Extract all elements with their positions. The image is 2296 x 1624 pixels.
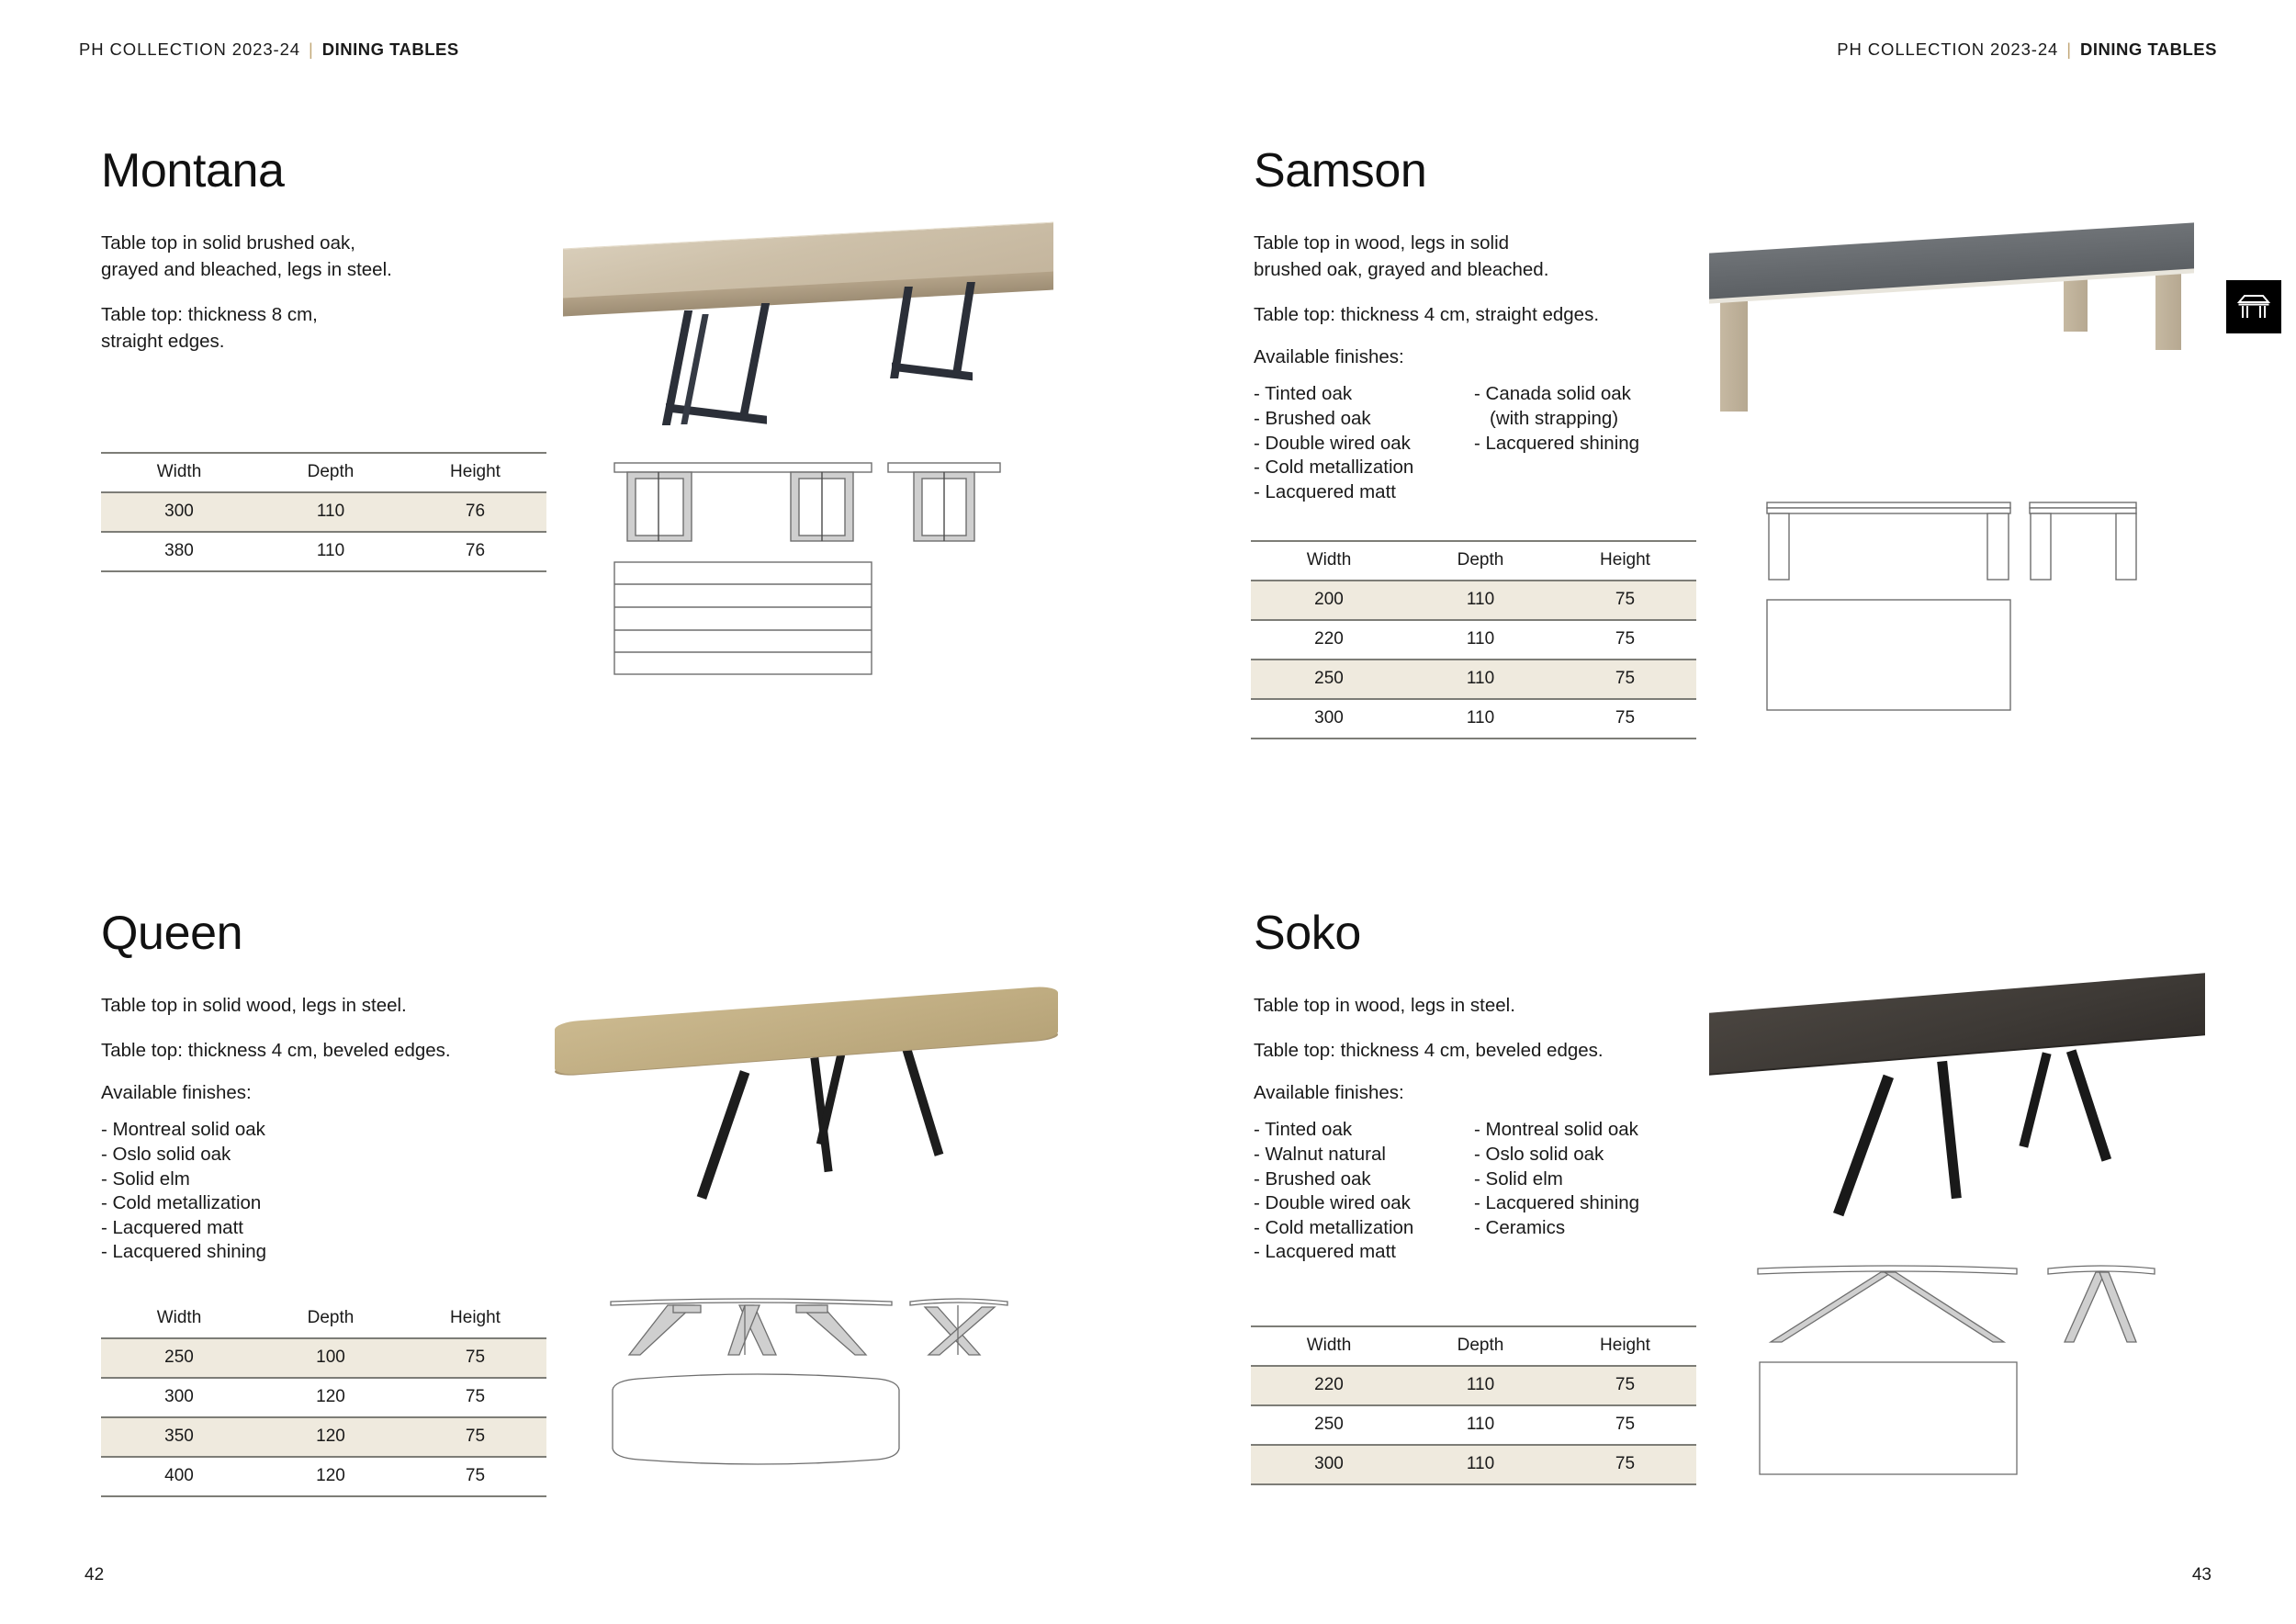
cell-height: 75	[1554, 581, 1696, 620]
cell-height: 76	[404, 532, 546, 571]
table-top-surface	[555, 986, 1058, 1076]
column-header-width: Width	[101, 453, 257, 492]
cell-width: 400	[101, 1457, 257, 1496]
column-header-depth: Depth	[257, 453, 404, 492]
table-row: 400 120 75	[101, 1457, 546, 1496]
finishes-column-right: - Canada solid oak (with strapping) - La…	[1474, 382, 1639, 504]
column-header-width: Width	[1251, 1326, 1407, 1366]
table-row: 220 110 75	[1251, 620, 1696, 660]
table-row: 200 110 75	[1251, 581, 1696, 620]
cell-width: 380	[101, 532, 257, 571]
cell-width: 300	[101, 492, 257, 532]
table-row: 380 110 76	[101, 532, 546, 571]
finish-item: - Lacquered matt	[1254, 1240, 1474, 1265]
samson-drawing-svg	[1754, 491, 2177, 721]
cell-width: 250	[1251, 660, 1407, 699]
soko-drawing-svg	[1745, 1254, 2177, 1483]
montana-drawing-svg	[602, 450, 1033, 698]
running-head-separator: |	[309, 39, 314, 59]
column-header-height: Height	[404, 453, 546, 492]
finish-item: - Double wired oak	[1254, 1191, 1474, 1216]
product-title-samson: Samson	[1254, 147, 2218, 195]
table-header-row: Width Depth Height	[101, 453, 546, 492]
table-header-row: Width Depth Height	[1251, 541, 1696, 581]
column-header-height: Height	[1554, 541, 1696, 581]
table-row: 300 110 76	[101, 492, 546, 532]
table-row: 300 120 75	[101, 1378, 546, 1417]
cell-depth: 110	[1407, 1445, 1554, 1484]
finishes-column-left: - Montreal solid oak - Oslo solid oak - …	[101, 1118, 321, 1265]
technical-drawing-montana	[602, 450, 1033, 703]
cell-height: 75	[404, 1338, 546, 1378]
finishes-column-right: - Montreal solid oak - Oslo solid oak - …	[1474, 1118, 1639, 1265]
queen-drawing-svg	[602, 1281, 1033, 1493]
table-row: 300 110 75	[1251, 699, 1696, 739]
finish-item: - Oslo solid oak	[1474, 1143, 1639, 1167]
cell-width: 250	[1251, 1405, 1407, 1445]
finish-item: - Brushed oak	[1254, 407, 1474, 432]
catalog-spread: PH COLLECTION 2023-24|DINING TABLES PH C…	[0, 0, 2296, 1624]
leg-post	[697, 1070, 750, 1200]
leg-post	[739, 303, 770, 418]
cell-depth: 110	[257, 532, 404, 571]
column-header-depth: Depth	[257, 1300, 404, 1338]
finish-item: - Lacquered shining	[101, 1240, 321, 1265]
running-head-left: PH COLLECTION 2023-24|DINING TABLES	[79, 39, 459, 60]
table-header-row: Width Depth Height	[1251, 1326, 1696, 1366]
running-head-collection: PH COLLECTION 2023-24	[1837, 39, 2058, 59]
finish-item: - Solid elm	[1474, 1167, 1639, 1192]
product-title-soko: Soko	[1254, 909, 2218, 957]
finish-item: - Tinted oak	[1254, 382, 1474, 407]
finish-item: - Solid elm	[101, 1167, 321, 1192]
table-row: 250 100 75	[101, 1338, 546, 1378]
page-number-left: 42	[84, 1565, 104, 1585]
finish-item: - Walnut natural	[1254, 1143, 1474, 1167]
cell-width: 220	[1251, 1366, 1407, 1405]
finish-item: - Montreal solid oak	[1474, 1118, 1639, 1143]
spec-table-soko: Width Depth Height 220 110 75 250 110 75…	[1251, 1325, 1696, 1485]
cell-height: 75	[404, 1417, 546, 1457]
leg-post	[903, 1048, 944, 1156]
cell-height: 75	[1554, 620, 1696, 660]
cell-depth: 110	[1407, 660, 1554, 699]
product-photo-queen	[551, 997, 1070, 1217]
product-photo-soko	[1704, 987, 2213, 1217]
finishes-column-left: - Tinted oak - Walnut natural - Brushed …	[1254, 1118, 1474, 1265]
cell-depth: 110	[257, 492, 404, 532]
spec-table-samson: Width Depth Height 200 110 75 220 110 75…	[1251, 540, 1696, 739]
leg-post	[2019, 1052, 2051, 1147]
cell-height: 75	[404, 1457, 546, 1496]
finish-item: - Lacquered matt	[1254, 480, 1474, 505]
running-head-separator: |	[2066, 39, 2072, 59]
spec-table-queen: Width Depth Height 250 100 75 300 120 75…	[101, 1300, 546, 1497]
finish-item: - Lacquered matt	[101, 1216, 321, 1241]
finish-item: - Canada solid oak	[1474, 382, 1639, 407]
cell-depth: 110	[1407, 620, 1554, 660]
column-header-depth: Depth	[1407, 1326, 1554, 1366]
finish-item: - Montreal solid oak	[101, 1118, 321, 1143]
column-header-depth: Depth	[1407, 541, 1554, 581]
running-head-section: DINING TABLES	[322, 39, 459, 59]
column-header-width: Width	[1251, 541, 1407, 581]
finish-item: - Cold metallization	[101, 1191, 321, 1216]
leg-post	[1720, 297, 1748, 412]
finish-item: - Ceramics	[1474, 1216, 1639, 1241]
finish-item: - Double wired oak	[1254, 432, 1474, 457]
finish-item: - Cold metallization	[1254, 1216, 1474, 1241]
cell-height: 75	[1554, 1366, 1696, 1405]
product-title-queen: Queen	[101, 909, 1157, 957]
cell-height: 75	[1554, 699, 1696, 739]
column-header-width: Width	[101, 1300, 257, 1338]
dining-table-icon	[2235, 291, 2272, 322]
cell-depth: 110	[1407, 581, 1554, 620]
technical-drawing-soko	[1745, 1254, 2177, 1488]
table-row: 250 110 75	[1251, 660, 1696, 699]
finish-item-continuation: (with strapping)	[1474, 407, 1639, 432]
cell-depth: 110	[1407, 1405, 1554, 1445]
finish-item: - Cold metallization	[1254, 456, 1474, 480]
table-row: 220 110 75	[1251, 1366, 1696, 1405]
finish-item: - Lacquered shining	[1474, 1191, 1639, 1216]
cell-depth: 120	[257, 1457, 404, 1496]
page-number-right: 43	[2192, 1565, 2212, 1585]
cell-width: 350	[101, 1417, 257, 1457]
cell-width: 200	[1251, 581, 1407, 620]
running-head-section: DINING TABLES	[2080, 39, 2217, 59]
cell-height: 75	[1554, 1445, 1696, 1484]
leg-post	[952, 282, 975, 374]
product-photo-montana	[556, 230, 1061, 423]
table-header-row: Width Depth Height	[101, 1300, 546, 1338]
cell-depth: 120	[257, 1417, 404, 1457]
running-head-collection: PH COLLECTION 2023-24	[79, 39, 300, 59]
table-top-surface	[1709, 973, 2205, 1073]
product-photo-samson	[1704, 234, 2204, 409]
running-head-right: PH COLLECTION 2023-24|DINING TABLES	[1837, 39, 2217, 60]
finish-item: - Tinted oak	[1254, 1118, 1474, 1143]
technical-drawing-samson	[1754, 491, 2177, 726]
cell-depth: 110	[1407, 1366, 1554, 1405]
cell-depth: 110	[1407, 699, 1554, 739]
cell-height: 75	[404, 1378, 546, 1417]
finish-item: - Oslo solid oak	[101, 1143, 321, 1167]
table-row: 350 120 75	[101, 1417, 546, 1457]
table-row: 300 110 75	[1251, 1445, 1696, 1484]
section-tab-dining-tables[interactable]	[2226, 280, 2281, 333]
cell-width: 300	[101, 1378, 257, 1417]
finish-item: - Brushed oak	[1254, 1167, 1474, 1192]
cell-depth: 100	[257, 1338, 404, 1378]
cell-height: 75	[1554, 1405, 1696, 1445]
cell-height: 76	[404, 492, 546, 532]
finish-item: - Lacquered shining	[1474, 432, 1639, 457]
cell-width: 300	[1251, 1445, 1407, 1484]
leg-post	[1937, 1061, 1962, 1199]
product-title-montana: Montana	[101, 147, 1157, 195]
column-header-height: Height	[404, 1300, 546, 1338]
cell-width: 220	[1251, 620, 1407, 660]
table-row: 250 110 75	[1251, 1405, 1696, 1445]
cell-depth: 120	[257, 1378, 404, 1417]
leg-post	[1833, 1075, 1894, 1216]
cell-height: 75	[1554, 660, 1696, 699]
column-header-height: Height	[1554, 1326, 1696, 1366]
cell-width: 250	[101, 1338, 257, 1378]
spec-table-montana: Width Depth Height 300 110 76 380 110 76	[101, 452, 546, 572]
technical-drawing-queen	[602, 1281, 1033, 1497]
finishes-column-left: - Tinted oak - Brushed oak - Double wire…	[1254, 382, 1474, 504]
leg-post	[2066, 1049, 2111, 1161]
cell-width: 300	[1251, 699, 1407, 739]
